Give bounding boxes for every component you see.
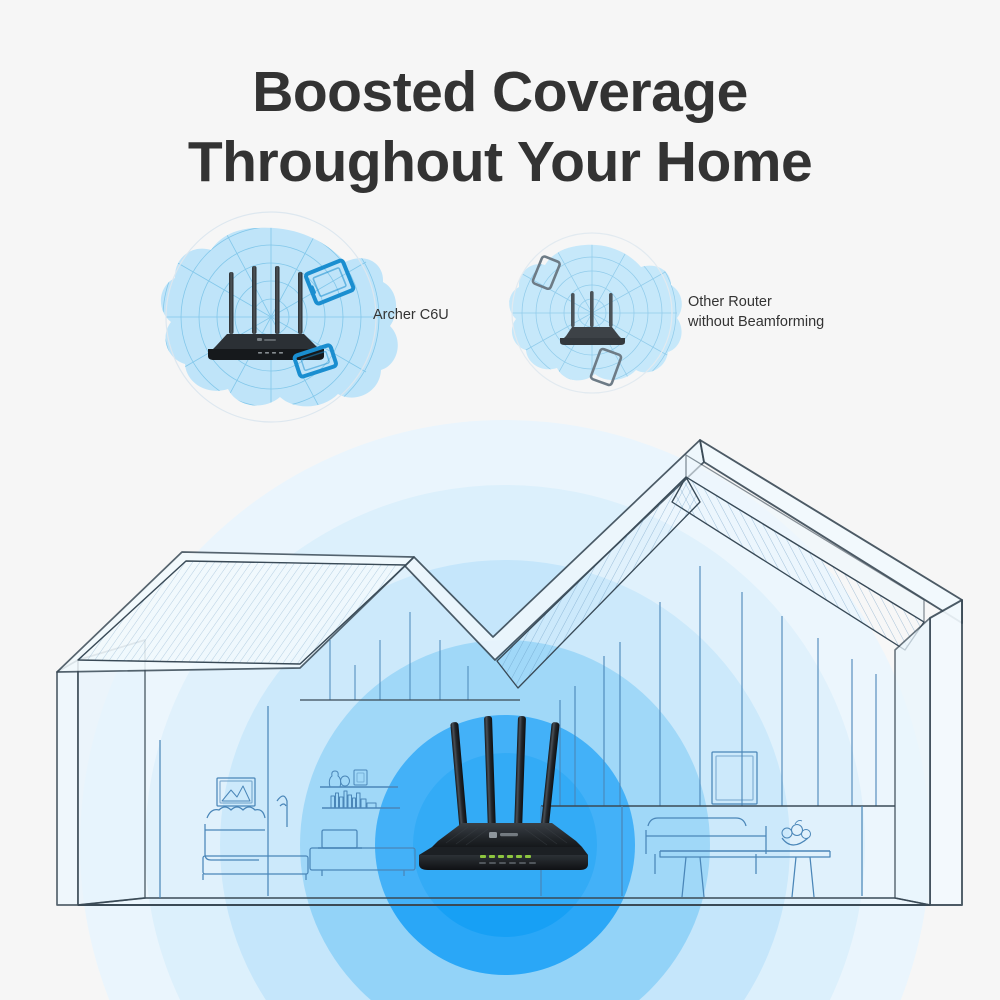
- comparison-label-other-router: Other Router without Beamforming: [688, 292, 824, 332]
- page-title: Boosted Coverage Throughout Your Home: [0, 58, 1000, 197]
- comparison-label-archer-c6u: Archer C6U: [373, 305, 449, 325]
- coverage-illustration: Boosted Coverage Throughout Your Home Ar…: [0, 0, 1000, 1000]
- house-right-wall: [895, 600, 962, 905]
- house-left-wall: [57, 640, 145, 905]
